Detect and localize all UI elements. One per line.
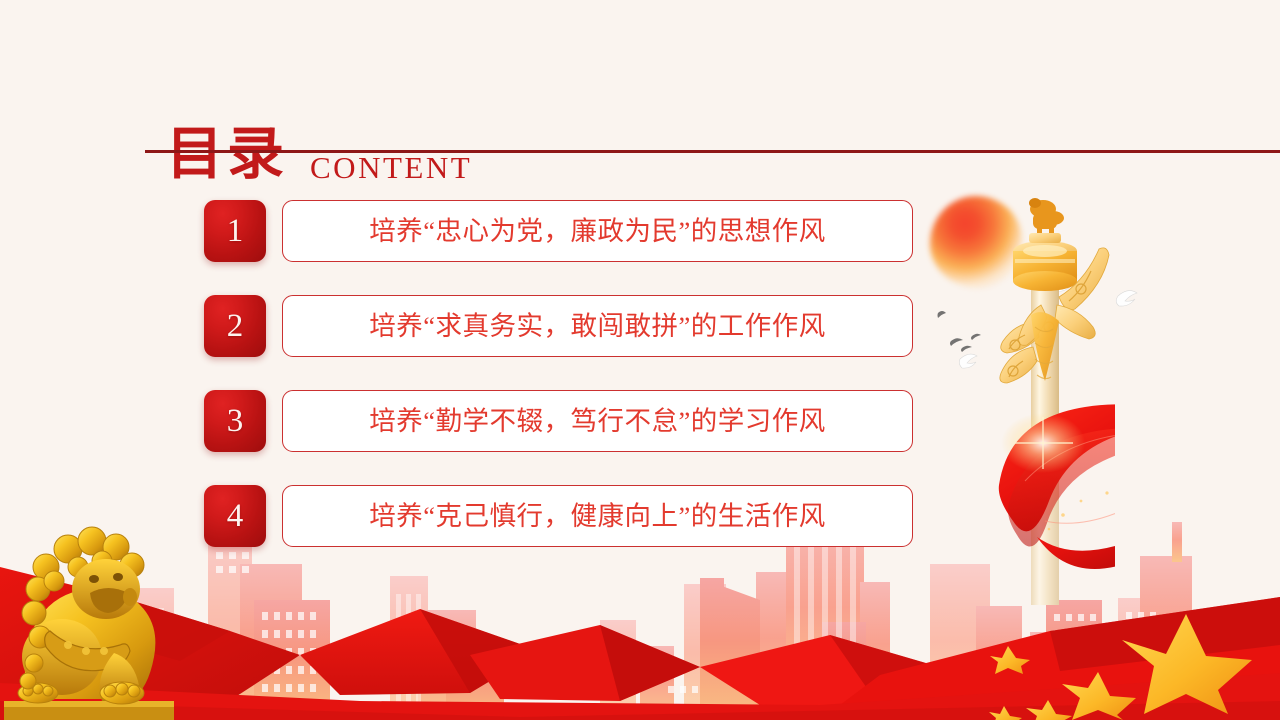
contents-item-1-label: 培养“忠心为党，廉政为民”的思想作风	[369, 218, 826, 245]
contents-item-1-number: 1	[227, 215, 244, 248]
contents-item-4-number-badge[interactable]: 4	[204, 485, 266, 547]
contents-item-1-number-badge[interactable]: 1	[204, 200, 266, 262]
contents-item-4[interactable]: 4 培养“克己慎行，健康向上”的生活作风	[204, 485, 913, 547]
contents-item-3-number-badge[interactable]: 3	[204, 390, 266, 452]
contents-item-2-box[interactable]: 培养“求真务实，敢闯敢拼”的工作作风	[282, 295, 913, 357]
contents-item-2-number-badge[interactable]: 2	[204, 295, 266, 357]
contents-item-3[interactable]: 3 培养“勤学不辍，笃行不怠”的学习作风	[204, 390, 913, 452]
contents-item-3-label: 培养“勤学不辍，笃行不怠”的学习作风	[369, 408, 826, 435]
contents-list: 1 培养“忠心为党，廉政为民”的思想作风 2 培养“求真务实，敢闯敢拼”的工作作…	[0, 0, 1280, 720]
contents-item-4-label: 培养“克己慎行，健康向上”的生活作风	[369, 503, 826, 530]
presentation-slide: 目录 CONTENT 1 培养“忠心为党，廉政为民”的思想作风 2 培养“求真务…	[0, 0, 1280, 720]
contents-item-4-box[interactable]: 培养“克己慎行，健康向上”的生活作风	[282, 485, 913, 547]
contents-item-1-box[interactable]: 培养“忠心为党，廉政为民”的思想作风	[282, 200, 913, 262]
contents-item-3-box[interactable]: 培养“勤学不辍，笃行不怠”的学习作风	[282, 390, 913, 452]
contents-item-2-label: 培养“求真务实，敢闯敢拼”的工作作风	[369, 313, 826, 340]
contents-item-2-number: 2	[227, 310, 244, 343]
contents-item-1[interactable]: 1 培养“忠心为党，廉政为民”的思想作风	[204, 200, 913, 262]
contents-item-3-number: 3	[227, 405, 244, 438]
contents-item-4-number: 4	[227, 500, 244, 533]
contents-item-2[interactable]: 2 培养“求真务实，敢闯敢拼”的工作作风	[204, 295, 913, 357]
